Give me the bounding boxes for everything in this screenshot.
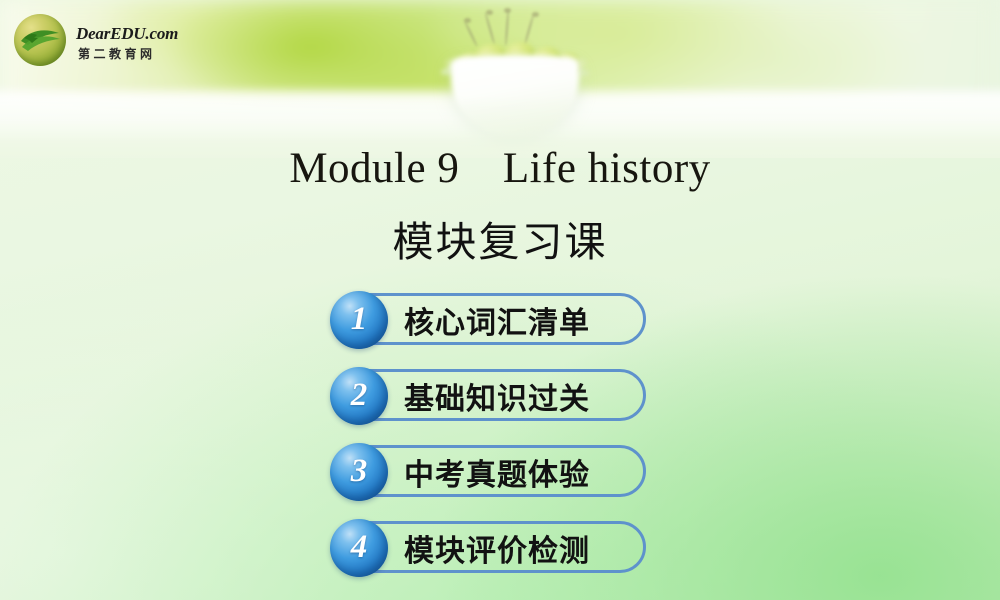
cherry-stem-tip [464,18,471,23]
menu-item-label: 核心词汇清单 [404,291,590,349]
module-menu: 1 核心词汇清单 2 基础知识过关 3 中考真题体验 4 模块评价检测 [330,291,660,595]
page-title: Module 9 Life history [0,144,1000,193]
menu-item-4[interactable]: 4 模块评价检测 [330,519,646,575]
menu-item-3[interactable]: 3 中考真题体验 [330,443,646,499]
dearedu-swoosh-orb-icon [14,14,66,66]
menu-number-label: 2 [351,379,368,412]
menu-item-1[interactable]: 1 核心词汇清单 [330,291,646,347]
page-subtitle: 模块复习课 [0,208,1000,268]
menu-item-label: 模块评价检测 [404,519,590,577]
menu-number-badge: 2 [330,367,388,425]
menu-number-label: 3 [351,455,368,488]
logo-brand-en: DearEDU.com [76,24,178,44]
site-logo[interactable]: DearEDU.com 第二教育网 [14,12,210,68]
menu-number-label: 4 [351,531,368,564]
presentation-slide: DearEDU.com 第二教育网 Module 9 Life history … [0,0,1000,600]
menu-number-badge: 3 [330,443,388,501]
cherry-stem-tip [504,8,511,13]
menu-item-2[interactable]: 2 基础知识过关 [330,367,646,423]
menu-number-badge: 1 [330,291,388,349]
cherry-stem-tip [532,12,539,17]
logo-brand-cn: 第二教育网 [78,45,156,62]
menu-number-badge: 4 [330,519,388,577]
menu-number-label: 1 [351,303,368,336]
cherry-stem-tip [486,10,493,15]
menu-item-label: 基础知识过关 [404,367,590,425]
menu-item-label: 中考真题体验 [404,443,590,501]
